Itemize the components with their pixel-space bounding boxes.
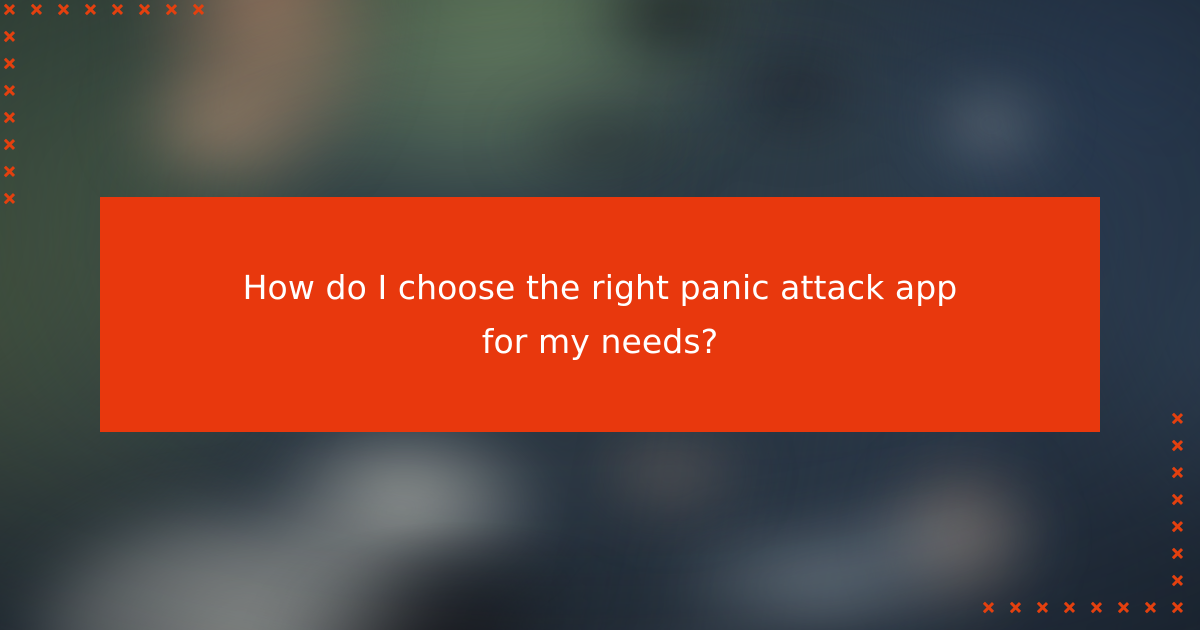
headline-banner: How do I choose the right panic attack a… <box>100 197 1100 432</box>
headline-text: How do I choose the right panic attack a… <box>220 261 980 368</box>
banner-stage: How do I choose the right panic attack a… <box>0 0 1200 630</box>
